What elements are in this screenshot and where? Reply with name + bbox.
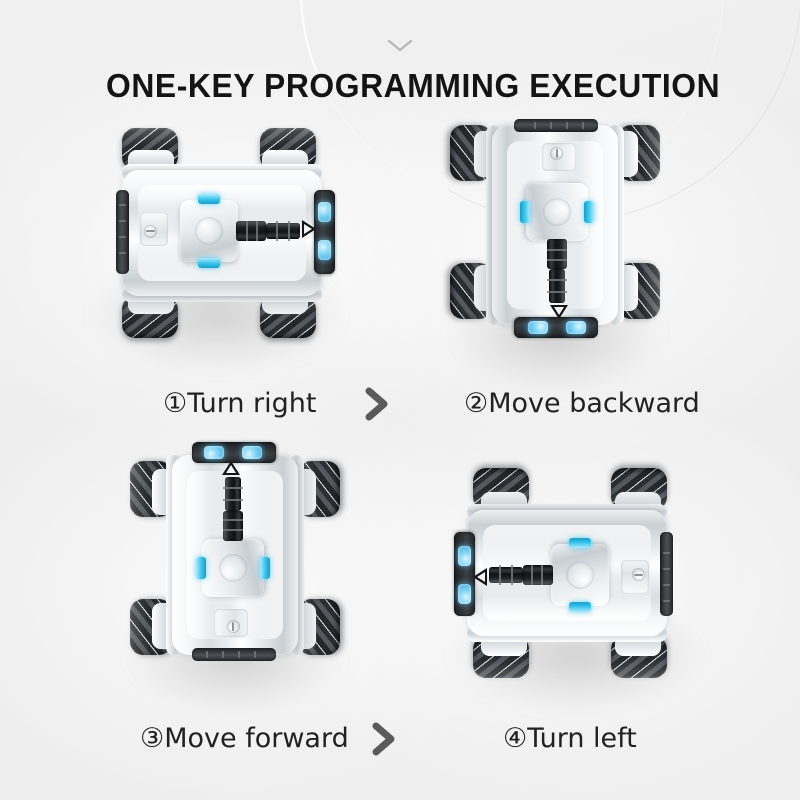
led-light [204,446,224,459]
cyan-accent-light [569,538,591,548]
screw-detail [227,620,240,633]
cyan-accent-light [260,557,270,579]
turret-dome [219,554,247,582]
gatling-barrel-cluster [544,239,570,305]
chevron-down-icon [386,38,414,54]
promo-slide: ONE-KEY PROGRAMMING EXECUTION [0,0,800,800]
led-light [566,321,586,334]
led-light [318,240,331,260]
cyan-accent-light [520,201,530,223]
cyan-accent-light [584,201,594,223]
turret-dome [543,198,571,226]
step-label-3: ③Move forward [140,723,349,754]
led-light [528,321,548,334]
step-label-2: ②Move backward [464,388,700,419]
front-light-pod [192,442,276,463]
chevron-right-icon-2 [367,720,401,758]
rear-vent-panel [660,532,673,616]
screw-detail [550,147,563,160]
gatling-barrel-cluster [487,562,553,588]
rear-vent-panel [514,119,598,132]
led-light [458,584,471,604]
screw-detail [632,568,645,581]
rear-vent-panel [192,648,276,661]
turret-housing [202,539,264,597]
gatling-barrel-cluster [220,475,246,541]
led-light [458,546,471,566]
turret-housing [526,183,588,241]
turret-housing [180,200,238,262]
cyan-accent-light [569,602,591,612]
cyan-accent-light [196,557,206,579]
warning-triangle-marker [222,461,240,475]
gatling-barrel-cluster [236,218,302,244]
led-light [318,202,331,222]
step-label-1: ①Turn right [163,388,316,419]
rear-vent-panel [116,190,129,274]
turret-dome [195,217,223,245]
led-light [242,446,262,459]
turret-dome [566,561,594,589]
warning-triangle-marker [473,568,487,586]
front-light-pod [514,317,598,338]
front-light-pod [314,190,335,274]
cyan-accent-light [198,194,220,204]
screw-detail [144,225,157,238]
chevron-right-icon-1 [360,385,394,423]
turret-housing [551,544,609,606]
cyan-accent-light [198,258,220,268]
step-label-4: ④Turn left [503,723,637,754]
front-light-pod [454,532,475,616]
